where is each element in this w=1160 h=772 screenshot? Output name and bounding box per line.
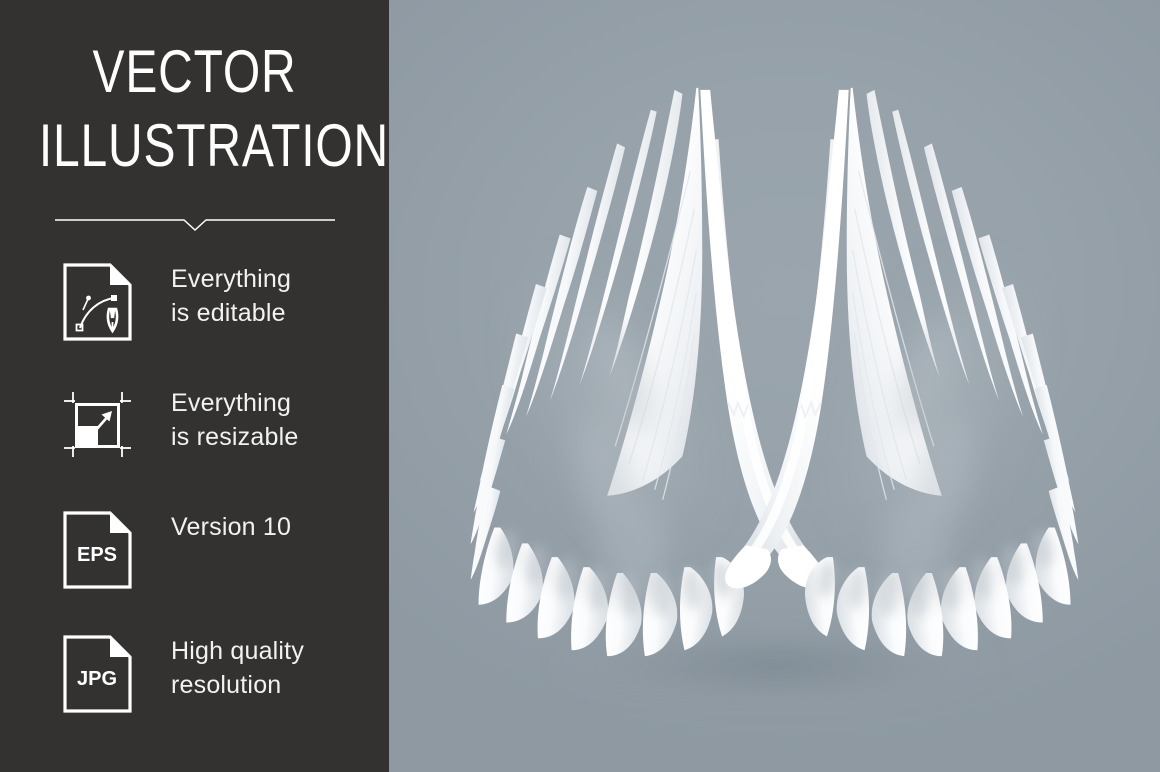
list-item-label: High quality resolution (171, 634, 381, 702)
list-item-label-line2: resolution (171, 668, 381, 702)
list-item-label-line2: is resizable (171, 420, 381, 454)
list-item-label-line1: Everything (171, 262, 381, 296)
resize-artboard-icon (62, 386, 138, 466)
list-item-label: Everything is editable (171, 262, 381, 330)
pen-tool-document-icon (62, 262, 138, 342)
list-item-label-line1: High quality (171, 634, 381, 668)
pair-of-white-angel-wings (389, 0, 1160, 772)
list-item-label-line1: Everything (171, 386, 381, 420)
left-wing (471, 88, 824, 656)
list-item-label: Version 10 (171, 510, 381, 544)
list-item-label: Everything is resizable (171, 386, 381, 454)
list-item: JPG High quality resolution (0, 634, 389, 758)
jpg-file-icon: JPG (62, 634, 138, 714)
feature-list: Everything is editable (0, 262, 389, 758)
page-title: VECTOR ILLUSTRATION (0, 42, 389, 176)
info-sidebar: VECTOR ILLUSTRATION (0, 0, 389, 772)
list-item-label-line1: Version 10 (171, 510, 381, 544)
title-line-secondary: ILLUSTRATION (39, 116, 350, 176)
list-item: EPS Version 10 (0, 510, 389, 634)
eps-file-icon-label: EPS (77, 544, 117, 566)
artwork-panel (389, 0, 1160, 772)
jpg-file-icon-label: JPG (77, 668, 117, 690)
chevron-notch-divider (55, 208, 335, 232)
title-line-primary: VECTOR (39, 42, 350, 102)
illustration-preview-canvas: VECTOR ILLUSTRATION (0, 0, 1160, 772)
eps-file-icon: EPS (62, 510, 138, 590)
list-item: Everything is editable (0, 262, 389, 386)
list-item: Everything is resizable (0, 386, 389, 510)
right-wing (725, 88, 1078, 656)
list-item-label-line2: is editable (171, 296, 381, 330)
